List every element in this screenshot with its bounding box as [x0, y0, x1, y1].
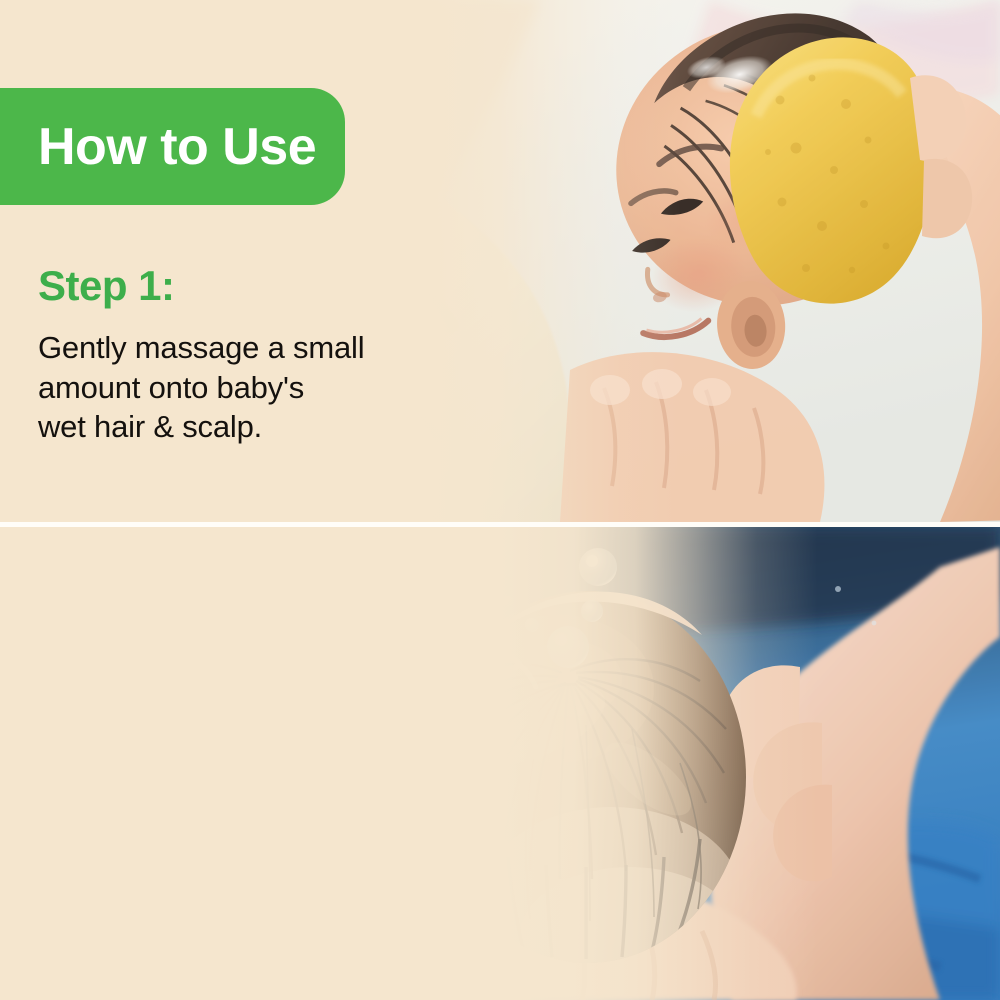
step-1-text-block: Step 1: Gently massage a small amount on…	[38, 262, 364, 446]
step-1-panel: How to Use Step 1: Gently massage a smal…	[0, 0, 1000, 522]
step-2-panel: Step 2: Rinse thoroughly with water.	[0, 527, 1000, 1000]
step-2-photo	[240, 527, 1000, 1000]
how-to-use-banner: How to Use	[0, 88, 345, 205]
how-to-use-infographic: How to Use Step 1: Gently massage a smal…	[0, 0, 1000, 1000]
baby-rinse-photo-illustration	[240, 527, 1000, 1000]
step-1-body: Gently massage a small amount onto baby'…	[38, 328, 364, 446]
panel-divider	[0, 522, 1000, 527]
page-title: How to Use	[0, 121, 316, 173]
step-1-heading: Step 1:	[38, 262, 364, 310]
